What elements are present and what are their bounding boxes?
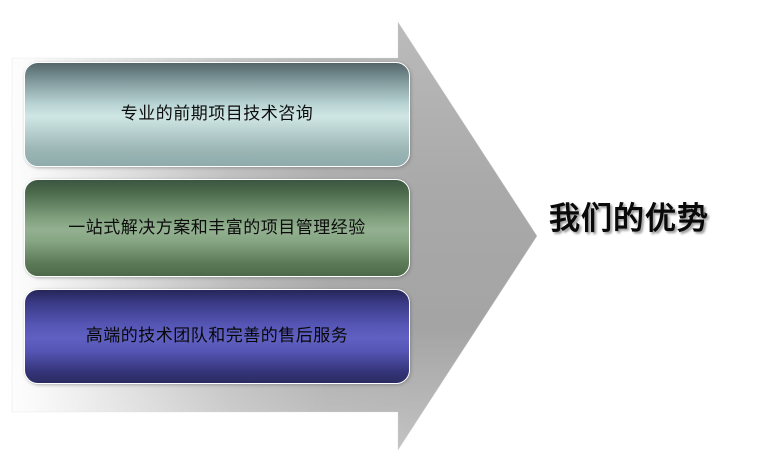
diagram-title: 我们的优势 [549,193,709,238]
feature-box-2[interactable]: 一站式解决方案和丰富的项目管理经验 [24,179,410,277]
diagram-canvas: 专业的前期项目技术咨询 一站式解决方案和丰富的项目管理经验 高端的技术团队和完善… [0,0,764,469]
feature-box-1[interactable]: 专业的前期项目技术咨询 [24,62,410,167]
feature-box-3[interactable]: 高端的技术团队和完善的售后服务 [24,289,410,384]
feature-box-3-label: 高端的技术团队和完善的售后服务 [86,326,349,346]
feature-box-2-label: 一站式解决方案和丰富的项目管理经验 [68,218,366,238]
feature-box-1-label: 专业的前期项目技术咨询 [121,104,314,124]
